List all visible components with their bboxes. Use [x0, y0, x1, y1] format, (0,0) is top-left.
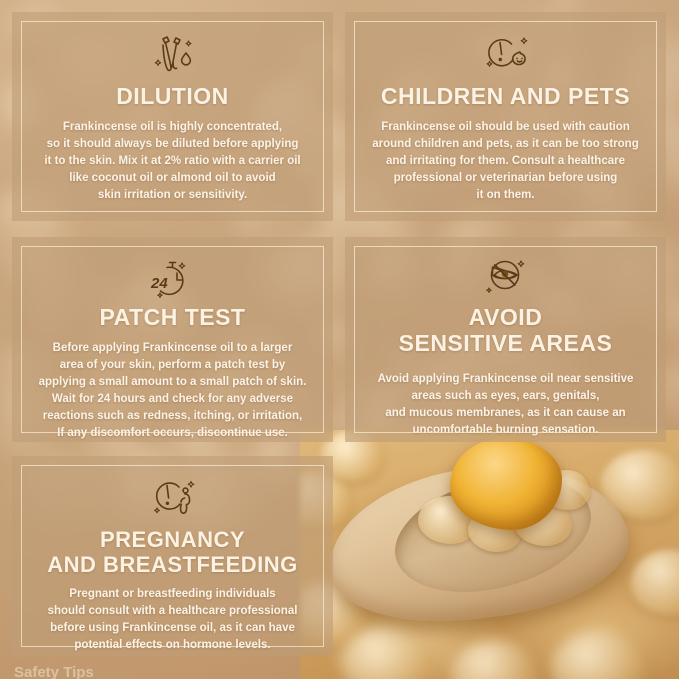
footer-crop-label: Safety Tips [14, 665, 164, 679]
safety-cards-grid: DILUTION Frankincense oil is highly conc… [0, 0, 679, 679]
card-body: Pregnant or breastfeeding individuals sh… [32, 586, 314, 654]
card-title: DILUTION [116, 84, 229, 110]
card-children-and-pets: CHILDREN AND PETS Frankincense oil shoul… [345, 12, 666, 221]
card-patch-test: 24 PATCH TEST Before applying Frankincen… [12, 237, 333, 442]
dropper-pipettes-icon [141, 32, 205, 78]
stopwatch-24-icon: 24 [141, 257, 205, 303]
card-body: Before applying Frankincense oil to a la… [23, 340, 323, 442]
warning-child-icon [474, 32, 538, 78]
card-body: Frankincense oil is highly concentrated,… [28, 119, 316, 204]
card-title: AVOID SENSITIVE AREAS [399, 305, 613, 357]
warning-pregnancy-icon [141, 476, 205, 522]
stopwatch-label: 24 [150, 275, 168, 292]
footer-cropped-text: Safety Tips [14, 665, 164, 679]
card-title: PREGNANCY AND BREASTFEEDING [47, 528, 298, 577]
card-pregnancy-and-breastfeeding: PREGNANCY AND BREASTFEEDING Pregnant or … [12, 456, 333, 656]
card-dilution: DILUTION Frankincense oil is highly conc… [12, 12, 333, 221]
card-body: Avoid applying Frankincense oil near sen… [362, 371, 650, 439]
no-eye-icon [474, 253, 538, 299]
card-title: PATCH TEST [100, 305, 246, 331]
card-avoid-sensitive-areas: AVOID SENSITIVE AREAS Avoid applying Fra… [345, 237, 666, 442]
card-body: Frankincense oil should be used with cau… [356, 119, 654, 204]
card-title: CHILDREN AND PETS [381, 84, 630, 110]
